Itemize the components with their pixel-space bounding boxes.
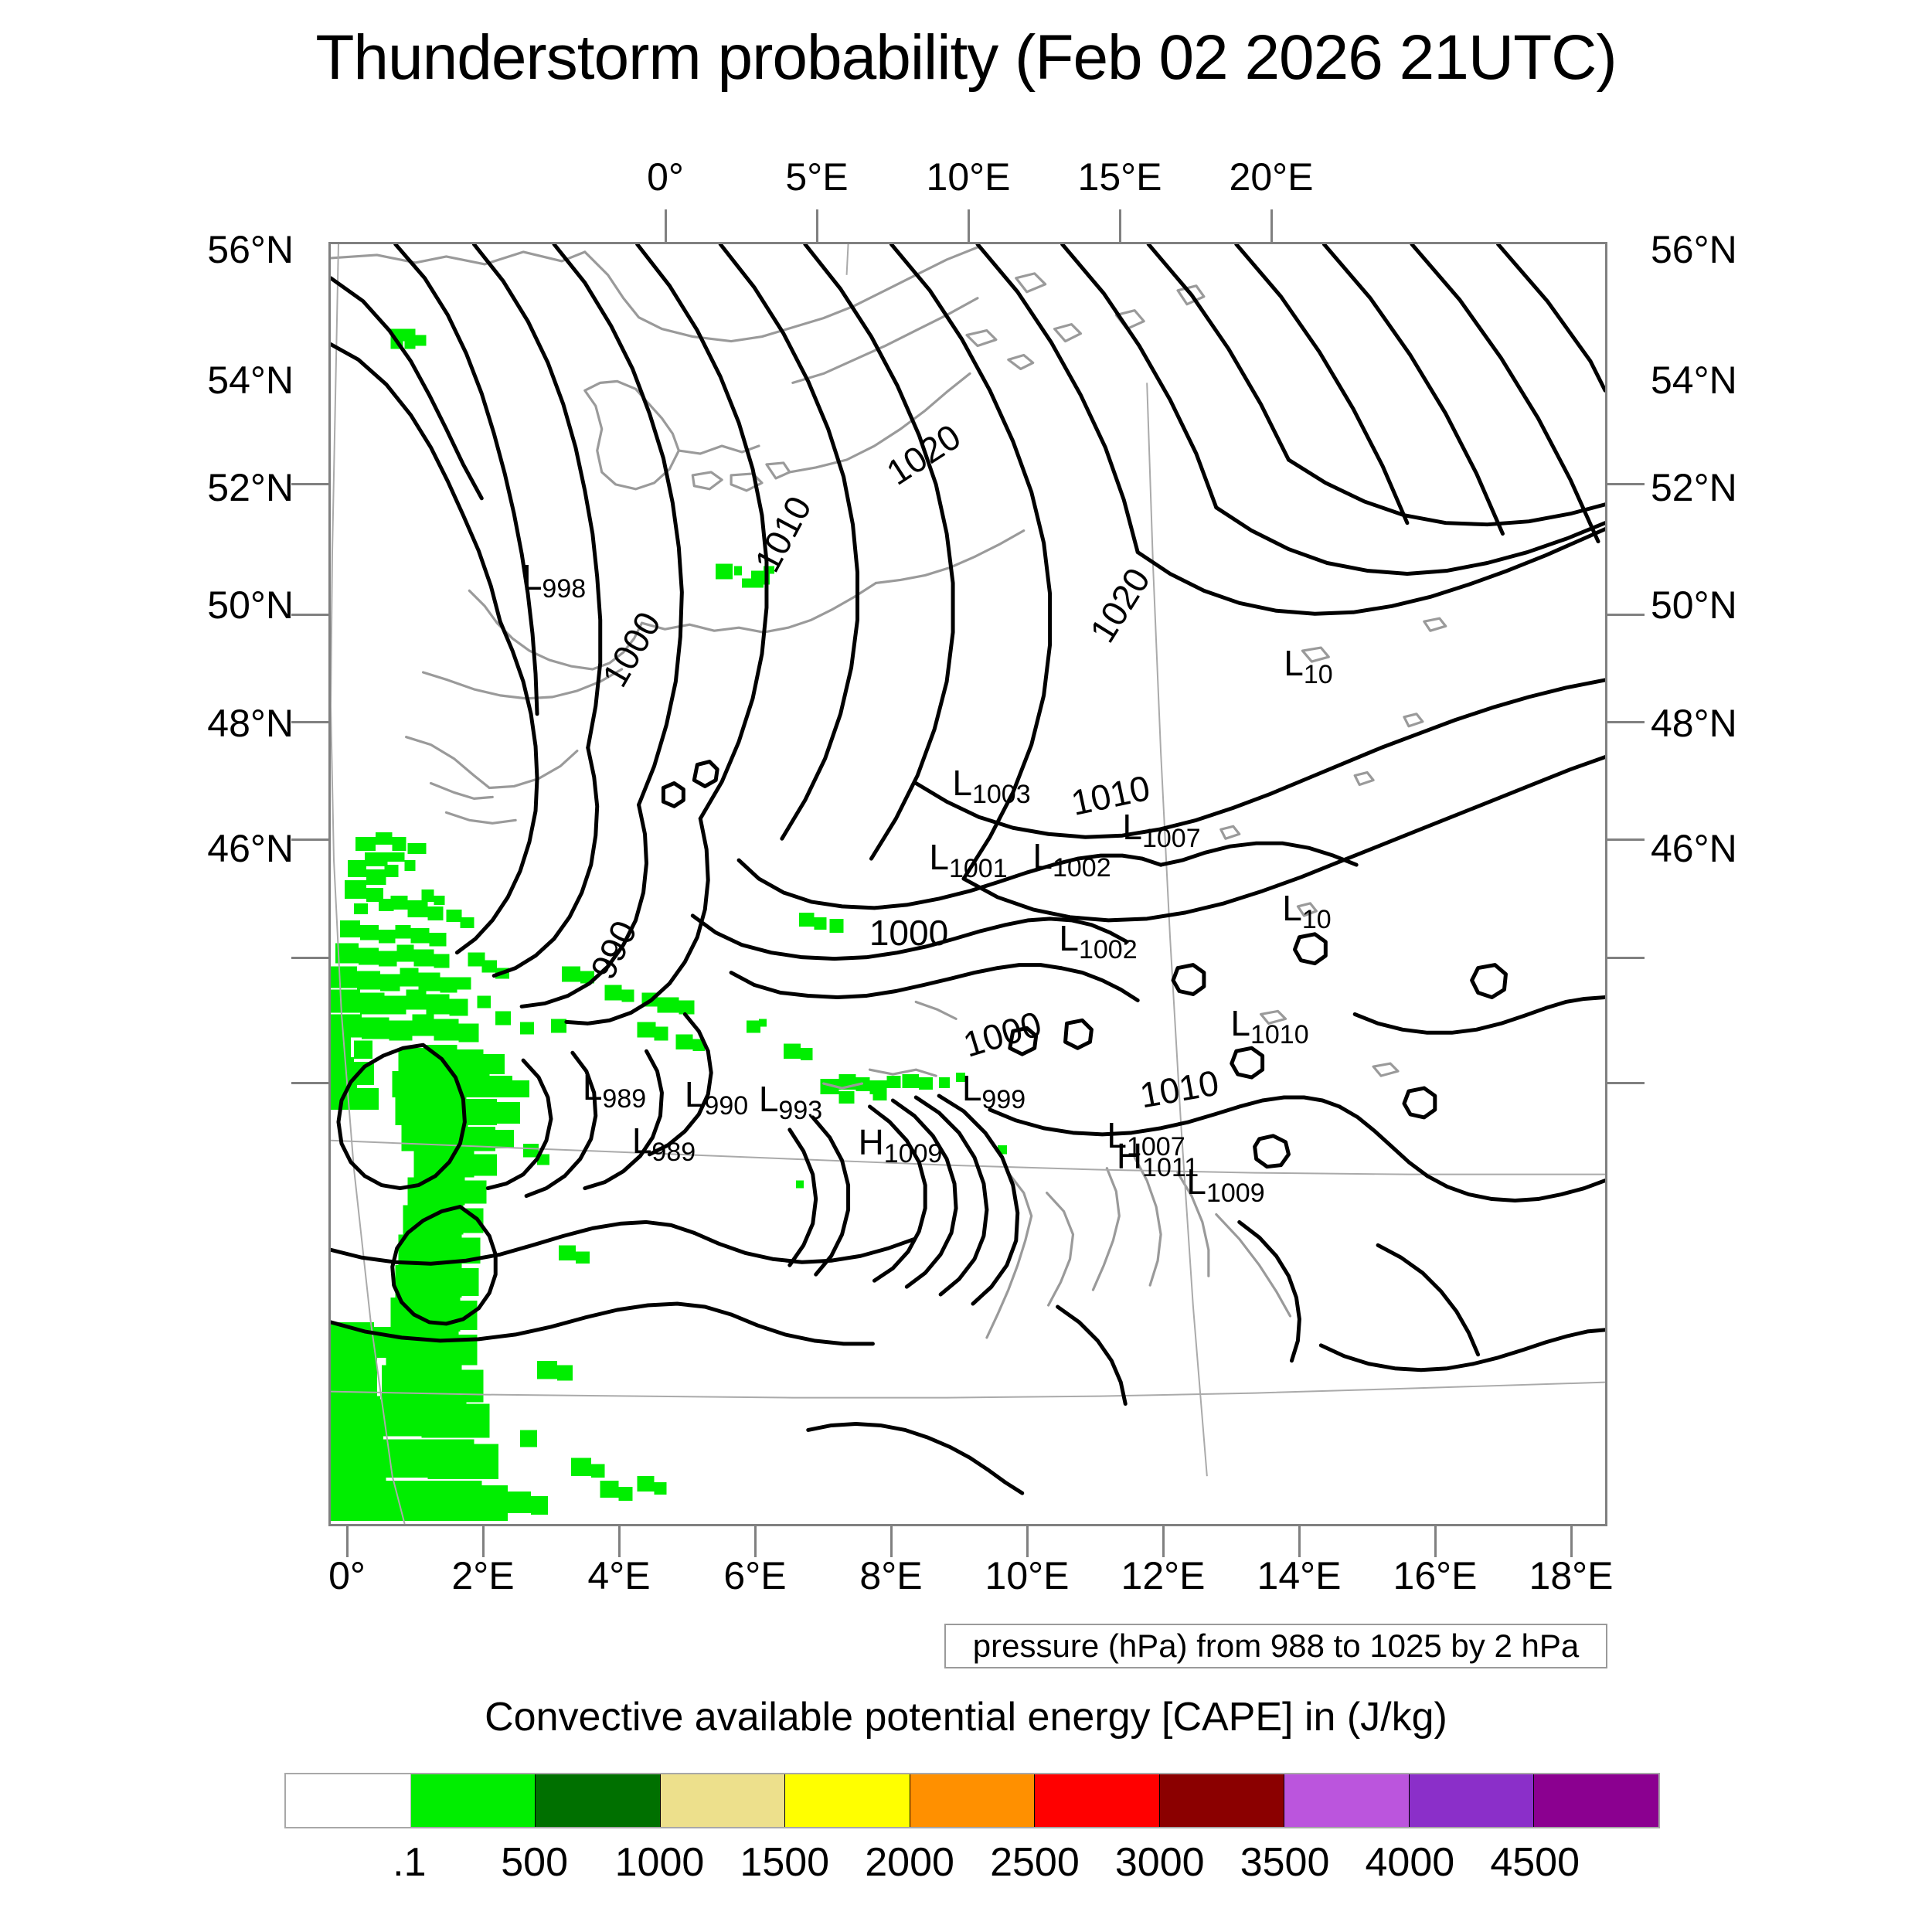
colorbar-title: Convective available potential energy [C… [0,1694,1932,1740]
pressure-center-l-999-12: L999 [962,1067,1026,1109]
pressure-center-type: L [522,557,543,597]
lat-tick-right-54°N: 54°N [1651,358,1821,403]
pressure-center-value: 10 [1302,905,1332,934]
pressure-legend-text: pressure (hPa) from 988 to 1025 by 2 hPa [973,1628,1579,1665]
pressure-center-type: L [1282,888,1302,928]
pressure-center-value: 998 [542,574,586,604]
colorbar-label-1000: 1000 [615,1839,705,1886]
colorbar-label-3000: 3000 [1115,1839,1205,1886]
colorbar-label-4000: 4000 [1366,1839,1455,1886]
lat-tick-right-50°N: 50°N [1651,583,1821,628]
lon-tick-bottom-12°E: 12°E [1121,1553,1206,1598]
contour-label-1000-5: 1000 [869,912,948,954]
lon-tickmark-bottom-7 [1298,1526,1301,1557]
pressure-center-l-1009-17: L1009 [1186,1161,1264,1202]
lon-tick-bottom-4°E: 4°E [587,1553,650,1598]
lon-tickmark-bottom-2 [618,1526,621,1557]
pressure-center-type: L [1032,836,1053,876]
pressure-center-value: 1007 [1142,824,1201,853]
lon-tick-bottom-10°E: 10°E [985,1553,1070,1598]
lon-tick-bottom-8°E: 8°E [859,1553,922,1598]
lat-tickmark-right-3 [1607,838,1645,841]
lon-tick-bottom-6°E: 6°E [723,1553,786,1598]
pressure-center-l-10-6: L10 [1282,887,1331,929]
lat-tick-left-54°N: 54°N [124,358,294,403]
lon-tick-top-15°E: 15°E [1078,155,1162,199]
lon-tickmark-top-3 [1119,209,1121,242]
lat-tick-left-56°N: 56°N [124,227,294,272]
pressure-center-value: 1009 [884,1139,943,1168]
lat-tickmark-right-5 [1607,1082,1645,1084]
pressure-center-h-1009-15: H1009 [859,1121,943,1163]
lon-tick-top-0°: 0° [647,155,684,199]
pressure-center-value: 1002 [1079,935,1138,964]
pressure-center-l-993-11: L993 [759,1078,822,1120]
lon-tickmark-top-0 [665,209,667,242]
pressure-center-type: L [685,1074,705,1114]
colorbar-label-.1: .1 [393,1839,426,1886]
colorbar-swatch-10[interactable] [1534,1774,1658,1827]
pressure-center-type: L [1059,918,1079,958]
pressure-center-value: 990 [704,1091,748,1121]
pressure-center-type: L [929,837,949,877]
colorbar-swatch-2[interactable] [536,1774,661,1827]
lat-tickmark-left-4 [291,957,328,959]
pressure-center-type: L [759,1079,779,1119]
colorbar-swatch-5[interactable] [910,1774,1036,1827]
colorbar-label-1500: 1500 [740,1839,829,1886]
map-canvas [331,244,1605,1524]
colorbar-swatch-0[interactable] [286,1774,411,1827]
lat-tick-right-52°N: 52°N [1651,465,1821,510]
pressure-center-value: 1010 [1250,1020,1309,1049]
colorbar-swatch-6[interactable] [1035,1774,1160,1827]
lon-tick-bottom-14°E: 14°E [1257,1553,1342,1598]
pressure-center-value: 993 [778,1096,822,1125]
lat-tickmark-left-5 [291,1082,328,1084]
lon-tick-top-10°E: 10°E [927,155,1011,199]
colorbar-swatch-8[interactable] [1284,1774,1410,1827]
pressure-center-type: L [952,763,972,803]
lat-tick-left-48°N: 48°N [124,701,294,746]
lon-tick-bottom-2°E: 2°E [451,1553,514,1598]
lat-tickmark-right-0 [1607,483,1645,485]
colorbar-swatch-7[interactable] [1160,1774,1285,1827]
pressure-center-type: L [632,1121,652,1161]
lat-tickmark-right-4 [1607,957,1645,959]
pressure-center-l-1007-3: L1007 [1122,806,1200,848]
pressure-center-l-990-10: L990 [685,1073,748,1115]
colorbar-tick-labels: .150010001500200025003000350040004500 [284,1839,1660,1893]
lat-tickmark-left-3 [291,838,328,841]
pressure-center-l-10-1: L10 [1284,642,1332,684]
pressure-center-value: 1001 [949,854,1008,883]
colorbar-swatch-3[interactable] [661,1774,786,1827]
colorbar[interactable] [284,1773,1660,1828]
pressure-center-l-989-14: L989 [632,1120,696,1162]
pressure-center-l-998-0: L998 [522,556,586,598]
colorbar-swatch-1[interactable] [411,1774,536,1827]
colorbar-label-2000: 2000 [865,1839,954,1886]
colorbar-label-4500: 4500 [1490,1839,1580,1886]
pressure-center-l-1010-8: L1010 [1230,1002,1308,1044]
lat-tick-left-46°N: 46°N [124,826,294,871]
colorbar-label-2500: 2500 [990,1839,1080,1886]
lon-tickmark-bottom-1 [482,1526,485,1557]
colorbar-label-3500: 3500 [1240,1839,1330,1886]
pressure-center-type: H [1117,1136,1142,1176]
pressure-center-value: 1002 [1053,853,1111,883]
page-title: Thunderstorm probability (Feb 02 2026 21… [0,22,1932,94]
pressure-center-value: 10 [1304,660,1333,689]
lon-tick-bottom-16°E: 16°E [1393,1553,1478,1598]
lon-tickmark-top-4 [1270,209,1273,242]
map-panel[interactable] [328,242,1607,1526]
lon-tickmark-bottom-8 [1434,1526,1437,1557]
lat-tickmark-left-0 [291,483,328,485]
lat-tickmark-right-1 [1607,614,1645,616]
pressure-center-type: L [1122,807,1142,847]
pressure-center-value: 989 [651,1138,696,1167]
pressure-center-value: 989 [602,1084,646,1114]
pressure-center-type: L [1186,1162,1206,1202]
lat-tickmark-left-1 [291,614,328,616]
pressure-center-type: L [962,1068,982,1108]
lon-tickmark-bottom-3 [754,1526,757,1557]
lon-tickmark-top-2 [968,209,970,242]
colorbar-swatch-9[interactable] [1410,1774,1535,1827]
lon-tickmark-bottom-4 [890,1526,893,1557]
pressure-center-l-1003-2: L1003 [952,762,1030,804]
pressure-center-type: L [1284,643,1304,683]
pressure-center-l-989-9: L989 [583,1066,646,1108]
colorbar-label-500: 500 [501,1839,568,1886]
lon-tick-top-5°E: 5°E [785,155,848,199]
lon-tickmark-bottom-0 [346,1526,349,1557]
pressure-center-type: L [1230,1003,1250,1043]
pressure-center-type: H [859,1122,884,1162]
lon-tickmark-bottom-9 [1570,1526,1573,1557]
lat-tick-left-50°N: 50°N [124,583,294,628]
lat-tickmark-right-2 [1607,721,1645,723]
lon-tick-bottom-18°E: 18°E [1529,1553,1614,1598]
lat-tick-right-56°N: 56°N [1651,227,1821,272]
pressure-center-value: 1003 [972,780,1031,809]
lon-tick-top-20°E: 20°E [1230,155,1314,199]
lon-tickmark-bottom-6 [1162,1526,1165,1557]
pressure-legend-box: pressure (hPa) from 988 to 1025 by 2 hPa [944,1624,1607,1668]
pressure-center-l-1002-7: L1002 [1059,917,1137,959]
lon-tick-bottom-0°: 0° [328,1553,366,1598]
lon-tickmark-top-1 [816,209,818,242]
lon-tickmark-bottom-5 [1026,1526,1029,1557]
pressure-center-l-1002-5: L1002 [1032,835,1111,877]
pressure-center-type: L [583,1067,603,1107]
lat-tickmark-left-2 [291,721,328,723]
lat-tick-left-52°N: 52°N [124,465,294,510]
lat-tick-right-46°N: 46°N [1651,826,1821,871]
lat-tick-right-48°N: 48°N [1651,701,1821,746]
colorbar-swatch-4[interactable] [785,1774,910,1827]
pressure-center-l-1001-4: L1001 [929,836,1007,878]
pressure-center-value: 1009 [1206,1179,1265,1208]
pressure-center-value: 999 [981,1085,1026,1114]
